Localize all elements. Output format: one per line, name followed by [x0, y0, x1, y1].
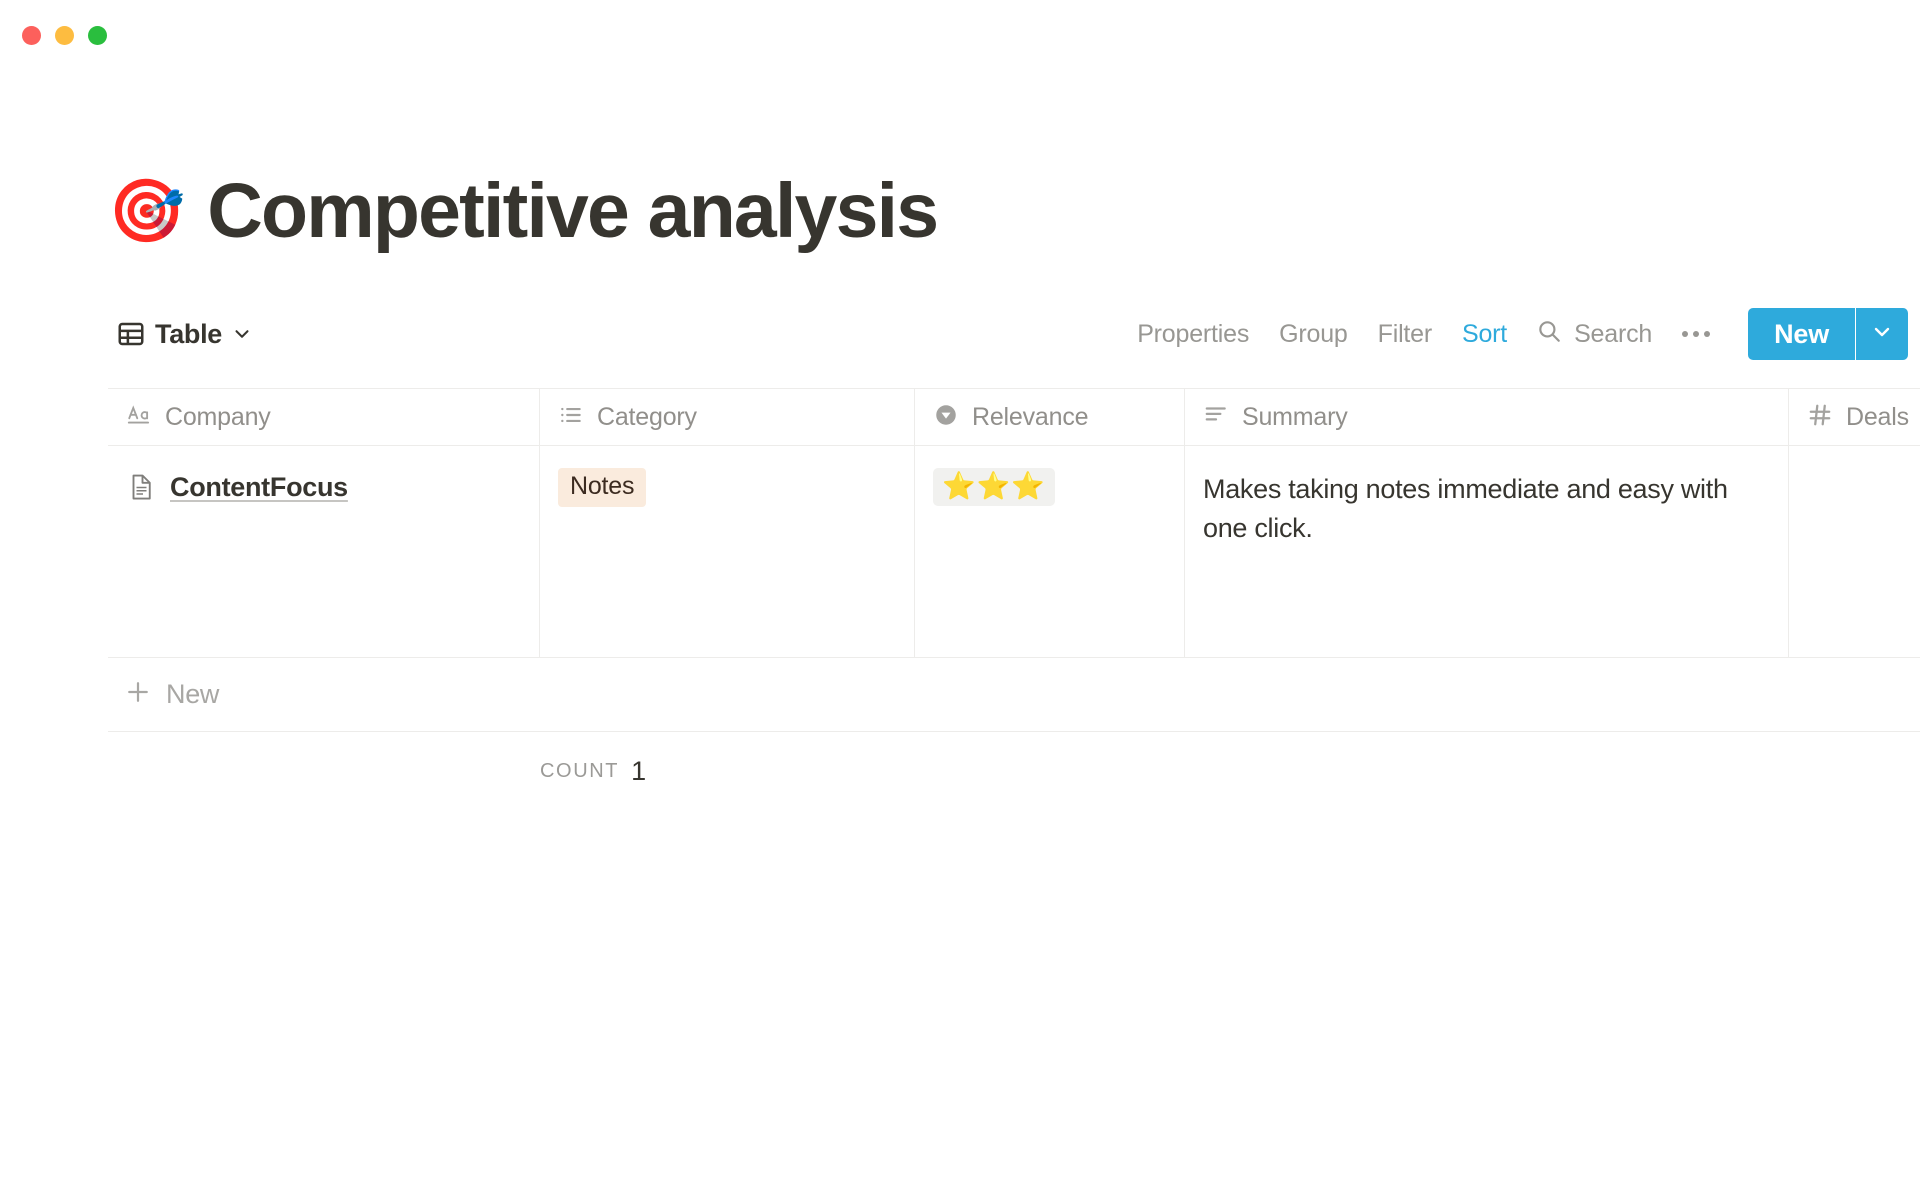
- page-title-row: 🎯 Competitive analysis: [108, 168, 937, 254]
- toolbar-more-button[interactable]: [1666, 321, 1726, 347]
- view-toolbar: Table Properties Group Filter Sort Searc: [108, 305, 1920, 363]
- chevron-down-icon: [1870, 320, 1894, 349]
- table-row: ContentFocus Notes ⭐⭐⭐ Makes taking note…: [108, 446, 1920, 658]
- column-header-company[interactable]: Company: [108, 389, 540, 445]
- add-new-row-button[interactable]: New: [108, 658, 1920, 732]
- table-footer: COUNT 1: [108, 732, 1920, 810]
- cell-relevance[interactable]: ⭐⭐⭐: [915, 446, 1185, 657]
- close-window-button[interactable]: [22, 26, 41, 45]
- select-circle-icon: [933, 402, 959, 433]
- page-document-icon: [126, 472, 156, 507]
- column-header-summary[interactable]: Summary: [1185, 389, 1789, 445]
- footer-cell-deals[interactable]: [1789, 732, 1920, 810]
- cell-company-title[interactable]: ContentFocus: [170, 472, 348, 503]
- maximize-window-button[interactable]: [88, 26, 107, 45]
- chevron-down-icon: [231, 323, 253, 345]
- column-header-label: Deals: [1846, 403, 1909, 432]
- toolbar-actions: Properties Group Filter Sort Search: [1122, 308, 1920, 360]
- toolbar-filter-button[interactable]: Filter: [1363, 314, 1447, 355]
- plus-icon: [124, 678, 152, 711]
- cell-summary[interactable]: Makes taking notes immediate and easy wi…: [1185, 446, 1789, 657]
- new-button[interactable]: New: [1748, 308, 1855, 360]
- column-header-label: Category: [597, 403, 697, 432]
- text-lines-icon: [1203, 402, 1229, 433]
- toolbar-properties-button[interactable]: Properties: [1122, 314, 1264, 355]
- count-value: 1: [631, 756, 646, 787]
- page-icon-emoji[interactable]: 🎯: [108, 180, 185, 242]
- ellipsis-icon: [1682, 331, 1688, 337]
- select-list-icon: [558, 402, 584, 433]
- view-switcher-table[interactable]: Table: [108, 314, 261, 355]
- database-table: Company Category: [108, 388, 1920, 810]
- ellipsis-icon: [1693, 331, 1699, 337]
- column-header-label: Summary: [1242, 403, 1348, 432]
- new-button-dropdown[interactable]: [1856, 308, 1908, 360]
- column-header-label: Relevance: [972, 403, 1088, 432]
- add-new-row-label: New: [166, 679, 219, 710]
- footer-cell-company[interactable]: [108, 732, 540, 810]
- cell-deals[interactable]: [1789, 446, 1920, 657]
- cell-company[interactable]: ContentFocus: [108, 446, 540, 657]
- search-icon: [1536, 318, 1562, 351]
- number-hash-icon: [1807, 402, 1833, 433]
- table-grid-icon: [116, 319, 146, 349]
- column-header-relevance[interactable]: Relevance: [915, 389, 1185, 445]
- app-page: 🎯 Competitive analysis Table Properti: [0, 0, 1920, 1200]
- ellipsis-icon: [1704, 331, 1710, 337]
- new-button-group: New: [1748, 308, 1908, 360]
- table-header-row: Company Category: [108, 388, 1920, 446]
- toolbar-group-button[interactable]: Group: [1264, 314, 1362, 355]
- column-header-label: Company: [165, 403, 271, 432]
- relevance-stars-tag: ⭐⭐⭐: [933, 468, 1055, 506]
- column-header-category[interactable]: Category: [540, 389, 915, 445]
- minimize-window-button[interactable]: [55, 26, 74, 45]
- toolbar-sort-button[interactable]: Sort: [1447, 314, 1522, 355]
- footer-cell-category-count[interactable]: COUNT 1: [540, 732, 915, 810]
- view-switcher-label: Table: [155, 319, 222, 350]
- page-title[interactable]: Competitive analysis: [207, 173, 937, 250]
- text-property-icon: [126, 402, 152, 433]
- cell-category[interactable]: Notes: [540, 446, 915, 657]
- column-header-deals[interactable]: Deals: [1789, 389, 1920, 445]
- footer-cell-summary[interactable]: [1185, 732, 1789, 810]
- window-traffic-lights: [22, 26, 107, 45]
- category-tag: Notes: [558, 468, 646, 507]
- count-label: COUNT: [540, 760, 619, 783]
- toolbar-search-button[interactable]: Search: [1522, 312, 1666, 357]
- toolbar-search-label: Search: [1574, 320, 1652, 349]
- footer-cell-relevance[interactable]: [915, 732, 1185, 810]
- cell-summary-text: Makes taking notes immediate and easy wi…: [1203, 468, 1770, 548]
